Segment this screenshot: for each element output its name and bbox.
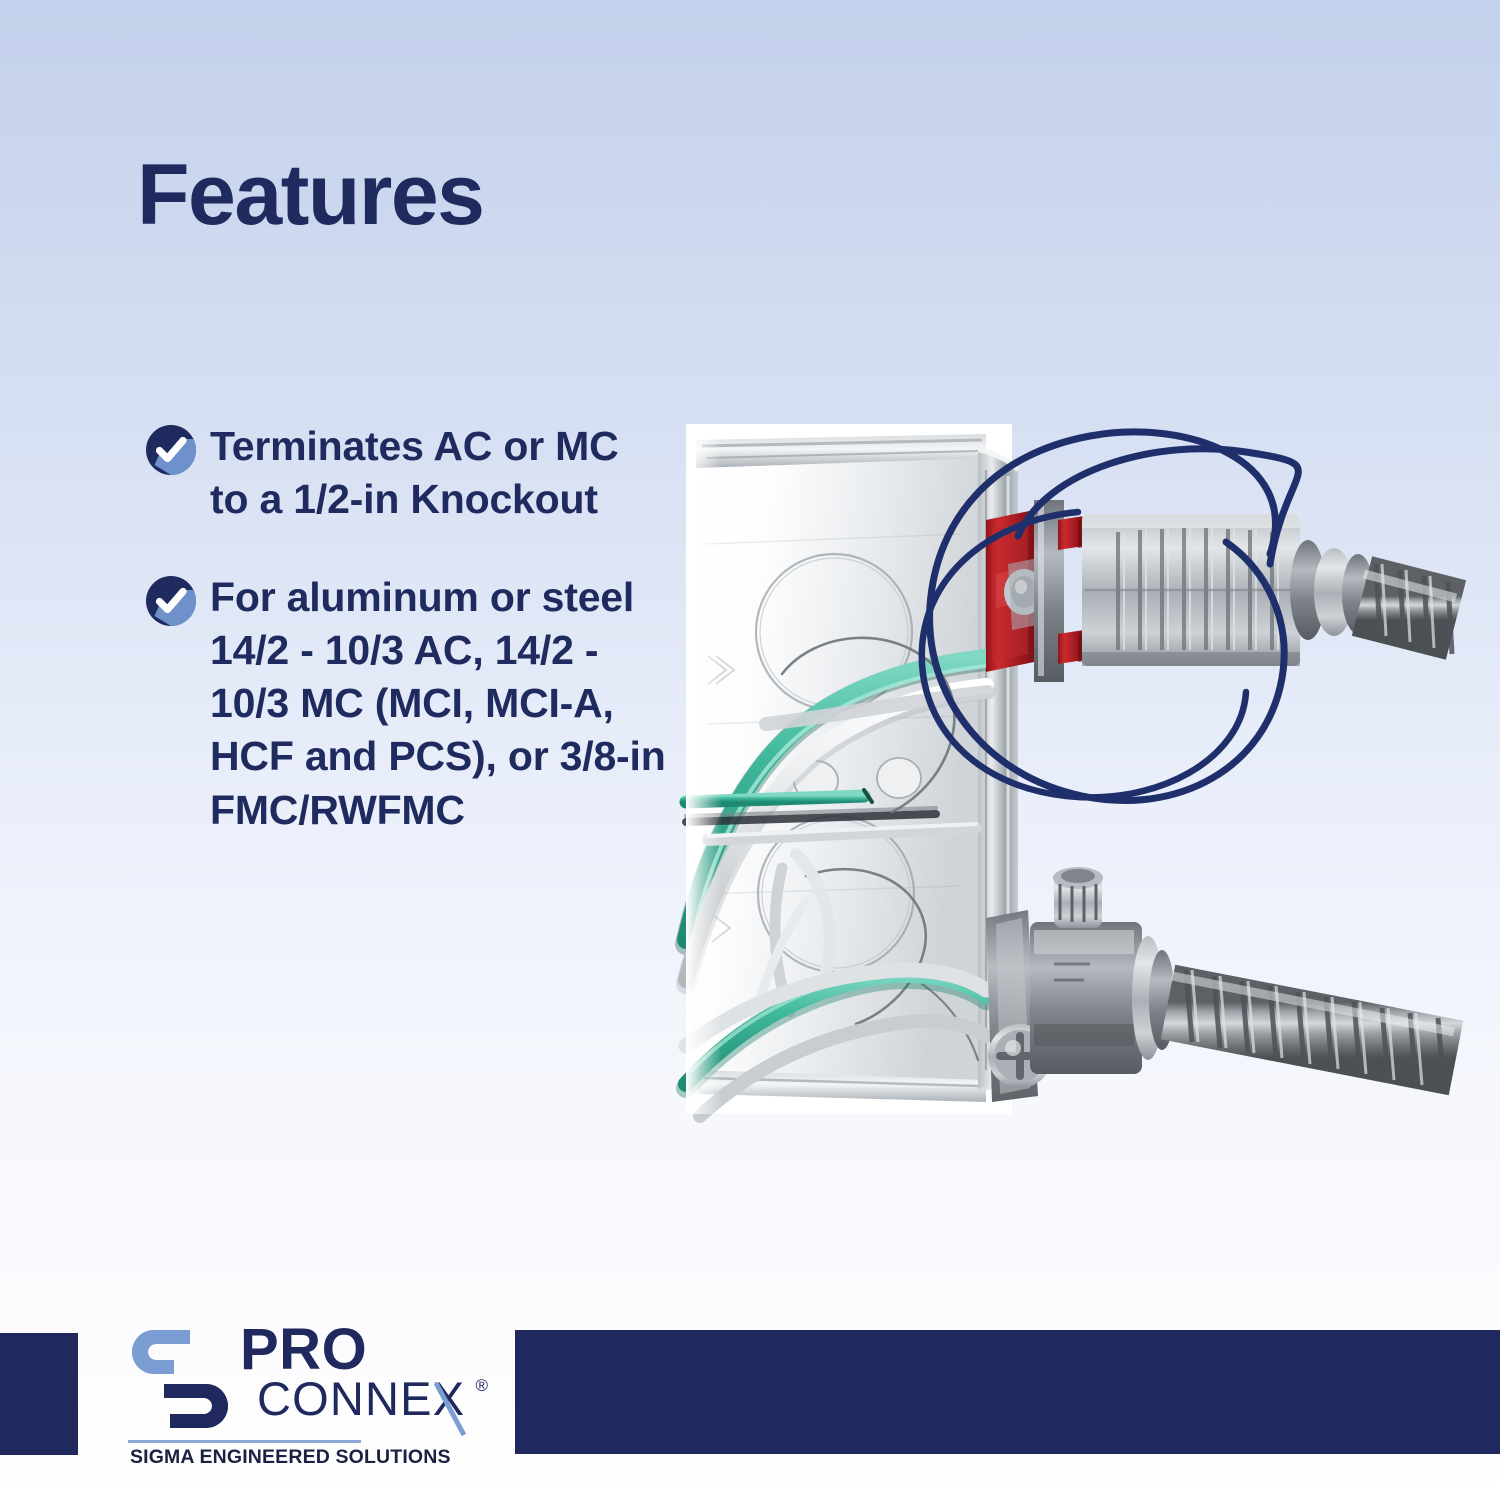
armored-cable-lower (1168, 970, 1456, 1090)
set-screw (1053, 867, 1103, 928)
features-list: Terminates AC or MC to a 1/2-in Knockout… (146, 420, 666, 881)
page-title: Features (137, 152, 484, 238)
product-photo (686, 424, 1446, 1114)
marketing-slide: Features Terminates AC or MC to a 1/2-in… (0, 0, 1500, 1500)
mc-cable-connector-upper (986, 500, 1374, 682)
footer-accent-bar-right (515, 1330, 1500, 1454)
logo-divider (128, 1440, 361, 1443)
sigma-s-logo-mark (128, 1324, 232, 1434)
feature-text: For aluminum or steel 14/2 - 10/3 AC, 14… (202, 571, 666, 837)
list-item: Terminates AC or MC to a 1/2-in Knockout (146, 420, 666, 527)
armored-cable-upper (1362, 564, 1456, 654)
check-circle-icon (146, 571, 202, 626)
footer-accent-bar-left (0, 1333, 78, 1455)
feature-text: Terminates AC or MC to a 1/2-in Knockout (202, 420, 666, 527)
registered-trademark-icon: ® (475, 1376, 488, 1396)
logo-x-accent-icon (420, 1377, 466, 1439)
proconnex-logo: PRO CONNEX ® SIGMA ENGINEERED SOLUTIONS (128, 1322, 473, 1467)
logo-brand-pro: PRO (240, 1322, 475, 1377)
logo-tagline: SIGMA ENGINEERED SOLUTIONS (130, 1446, 451, 1469)
check-circle-icon (146, 420, 202, 475)
list-item: For aluminum or steel 14/2 - 10/3 AC, 14… (146, 571, 666, 837)
